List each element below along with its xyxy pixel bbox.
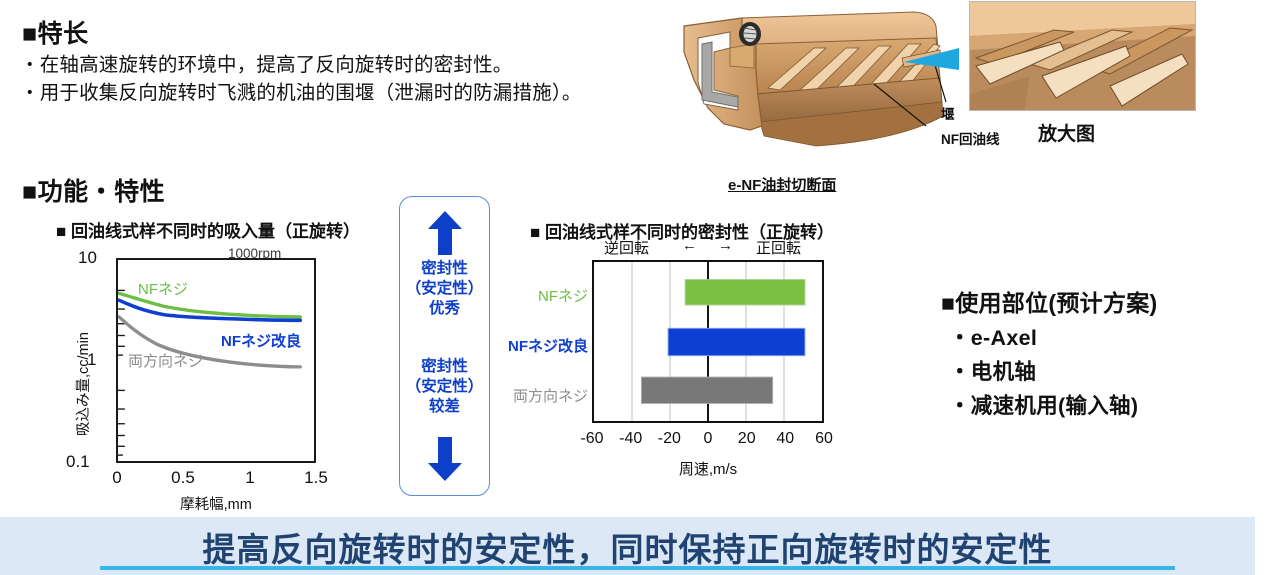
arrow-panel-top-line-1: 密封性: [400, 259, 489, 279]
arrow-panel-bottom-line-1: 密封性: [400, 357, 489, 377]
x-tick-1: 1: [245, 468, 254, 488]
x-tick-1.5: 1.5: [304, 468, 328, 488]
features-bullet-2: ・用于收集反向旋转时飞溅的机油的围堰（泄漏时的防漏措施）。: [20, 76, 582, 105]
bar-x-tick-20: 20: [738, 430, 756, 448]
series-label-nf-neji-kairyo: NFネジ改良: [221, 330, 301, 351]
bar-x-tick-40: 40: [776, 430, 794, 448]
features-heading: ■特长: [22, 14, 89, 50]
bar-category-nf-neji: NFネジ: [538, 285, 588, 306]
slide-canvas: ■特长 ・在轴高速旋转的环境中，提高了反向旋转时的密封性。 ・用于收集反向旋转时…: [0, 0, 1266, 575]
arrow-down-icon: [428, 437, 462, 486]
arrow-up-icon: [428, 211, 462, 260]
y-tick-10: 10: [78, 248, 97, 268]
banner-underline: [100, 566, 1175, 570]
suction-line-chart: 1000rpm 10 1 0.1: [58, 258, 358, 513]
sealing-quality-arrow-panel: 密封性 （安定性） 优秀 密封性 （安定性） 较差: [399, 196, 490, 496]
oil-seal-cross-section-illustration: [664, 4, 959, 164]
arrow-panel-top-line-2: （安定性）: [400, 279, 489, 299]
usage-heading: ■使用部位(预计方案): [941, 284, 1158, 318]
header-forward-rotation: 正回転: [756, 237, 801, 258]
bottom-banner: 提高反向旋转时的安定性，同时保持正向旋转时的安定性: [0, 517, 1255, 575]
header-arrow-right-icon: →: [718, 237, 733, 254]
sealing-bar-chart: 逆回転 ← → 正回転 NFネジ NF: [528, 232, 908, 512]
banner-text: 提高反向旋转时的安定性，同时保持正向旋转时的安定性: [0, 523, 1255, 571]
usage-item-1: ・e‐Axel: [941, 321, 1158, 352]
magnified-view-caption: 放大图: [1038, 119, 1095, 146]
main-illustration-caption: e-NF油封切断面: [728, 174, 836, 195]
arrow-panel-top-line-3: 优秀: [400, 299, 489, 319]
x-tick-0: 0: [112, 468, 121, 488]
header-reverse-rotation: 逆回転: [604, 237, 649, 258]
bar-x-tick-0: 0: [704, 430, 713, 448]
sealing-x-axis-label: 周速,m/s: [679, 458, 737, 479]
label-nf-oil-return-line: NF回油线: [941, 128, 1000, 148]
y-tick-0.1: 0.1: [66, 452, 90, 472]
features-bullet-1: ・在轴高速旋转的环境中，提高了反向旋转时的密封性。: [20, 48, 513, 77]
usage-locations-block: ■使用部位(预计方案) ・e‐Axel ・电机轴 ・减速机用(输入轴): [941, 284, 1158, 420]
arrow-panel-bottom-line-2: （安定性）: [400, 377, 489, 397]
usage-item-3: ・减速机用(输入轴): [941, 389, 1158, 420]
suction-chart-title: ■ 回油线式样不同时的吸入量（正旋转）: [56, 217, 360, 242]
header-arrow-left-icon: ←: [682, 237, 697, 254]
bar-x-tick--40: -40: [619, 430, 642, 448]
magnified-view-illustration: [969, 1, 1196, 111]
x-tick-0.5: 0.5: [171, 468, 195, 488]
series-label-nf-neji: NFネジ: [138, 278, 188, 299]
sealing-plot-area: [592, 260, 824, 423]
series-label-ryohoko-neji: 両方向ネジ: [128, 350, 203, 371]
label-weir: 堰: [941, 103, 955, 123]
arrow-panel-bottom-line-3: 较差: [400, 397, 489, 417]
bar-x-tick-60: 60: [815, 430, 833, 448]
suction-x-axis-label: 摩耗幅,mm: [180, 493, 252, 514]
bar-x-tick--60: -60: [580, 430, 603, 448]
usage-item-2: ・电机轴: [941, 355, 1158, 386]
bar-category-ryohoko-neji: 両方向ネジ: [513, 385, 588, 406]
function-section-heading: ■功能・特性: [22, 172, 165, 208]
bar-category-nf-neji-kairyo: NFネジ改良: [508, 335, 588, 356]
suction-y-axis-label: 吸込み量,cc/min: [72, 332, 93, 436]
bar-x-tick--20: -20: [658, 430, 681, 448]
